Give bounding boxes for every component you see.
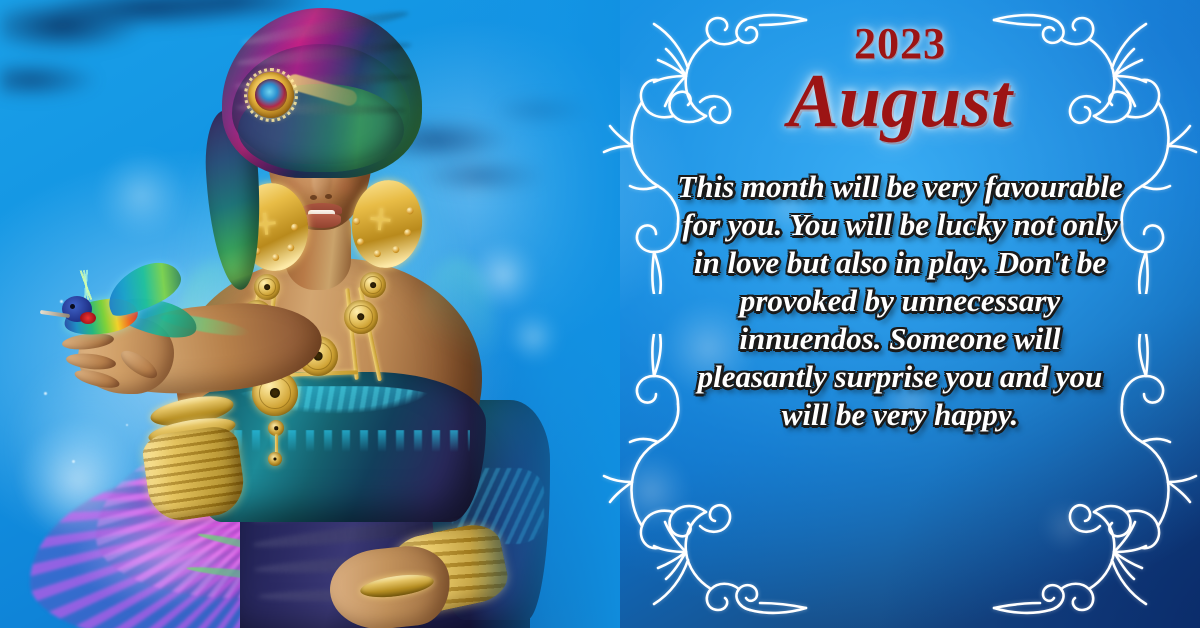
earring-bead [404,229,412,237]
necklace-disc [360,272,386,298]
nostril [310,195,317,200]
earring-bead [291,223,299,231]
cheek [330,176,360,196]
month-title: August [600,58,1200,145]
earring-bead [357,238,365,246]
necklace-disc [254,274,280,300]
monthly-forecast-text: This month will be very favourable for y… [672,168,1128,434]
earring-bead [272,254,280,262]
shoulder-rim-light [420,258,494,398]
nostril [325,194,332,199]
earring-bead [374,250,382,258]
earring-bead [406,207,414,215]
hummingbird-eye [70,304,75,309]
lower-lip [303,214,341,228]
horoscope-banner: 2023 August This month will be very favo… [0,0,1200,628]
earring-bead [287,244,295,252]
earring-bead [353,217,361,225]
turban-brooch [248,72,294,118]
forecast-panel: 2023 August This month will be very favo… [600,0,1200,628]
necklace-disc [344,300,378,334]
earring-bead [392,246,400,254]
hummingbird-throat [80,312,96,324]
necklace-drop [268,452,282,466]
fortune-teller-illustration [0,0,600,628]
earring-motif [369,207,391,231]
